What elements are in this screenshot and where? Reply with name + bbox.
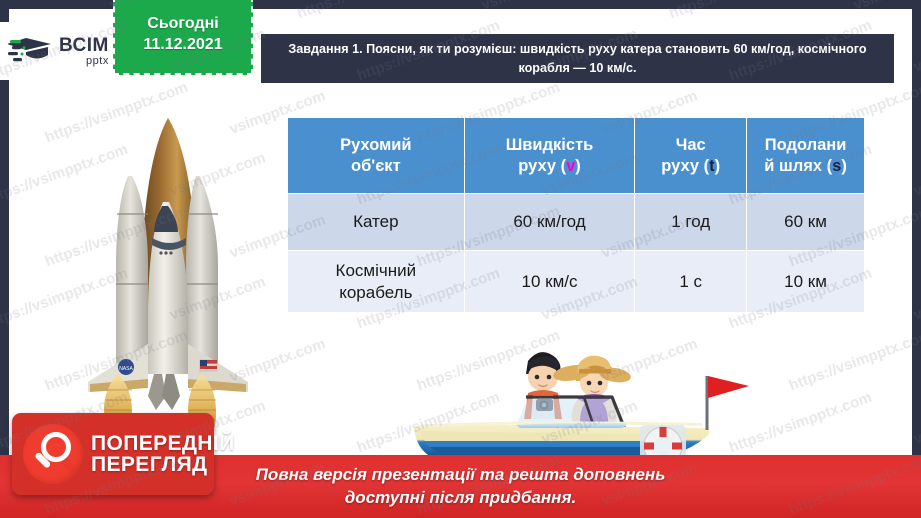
graduation-cap-icon: [8, 33, 54, 69]
task-text: Завдання 1. Поясни, як ти розумієш: швид…: [271, 40, 884, 77]
column-header-object: Рухомий об'єкт: [288, 118, 465, 194]
header-line2: руху (: [518, 157, 566, 175]
speedboat-with-children-image: [408, 333, 718, 468]
today-date-badge: Сьогодні 11.12.2021: [113, 0, 253, 75]
preview-line2: ПЕРЕГЛЯД: [91, 454, 235, 475]
preview-badge[interactable]: ПОПЕРЕДНІЙ ПЕРЕГЛЯД: [12, 413, 214, 495]
header-line1: Рухомий: [340, 136, 412, 154]
task-header-band: Завдання 1. Поясни, як ти розумієш: швид…: [258, 31, 897, 86]
table-header-row: Рухомий об'єкт Швидкість руху (v) Час ру…: [288, 118, 865, 194]
magnifier-icon: [23, 424, 83, 484]
cell-distance: 10 км: [747, 251, 865, 313]
object-name-line2: корабель: [339, 283, 412, 302]
space-shuttle-launch-image: NASA: [62, 98, 292, 438]
header-line2: об'єкт: [351, 157, 401, 175]
header-line2: й шлях (: [764, 157, 832, 175]
cell-speed: 60 км/год: [464, 194, 635, 251]
cell-object: Космічний корабель: [288, 251, 465, 313]
column-header-time: Час руху (t): [635, 118, 747, 194]
distance-symbol: s: [832, 157, 841, 175]
presentation-slide: NASA: [0, 0, 921, 518]
today-date: 11.12.2021: [143, 36, 222, 54]
logo-sub-text: pptx: [86, 56, 109, 67]
header-line1: Подолани: [765, 136, 847, 154]
column-header-speed: Швидкість руху (v): [464, 118, 635, 194]
header-tail: ): [841, 157, 847, 175]
column-header-distance: Подолани й шлях (s): [747, 118, 865, 194]
banner-line1: Повна версія презентації та решта доповн…: [256, 464, 666, 486]
today-label: Сьогодні: [147, 15, 218, 33]
header-line1: Швидкість: [506, 136, 594, 154]
cell-object: Катер: [288, 194, 465, 251]
object-name-line1: Космічний: [336, 261, 417, 280]
table-row: Катер 60 км/год 1 год 60 км: [288, 194, 865, 251]
header-tail: ): [715, 157, 721, 175]
preview-line1: ПОПЕРЕДНІЙ: [91, 433, 235, 454]
table-row: Космічний корабель 10 км/с 1 с 10 км: [288, 251, 865, 313]
vsim-pptx-logo: ВСІМ pptx: [0, 22, 122, 80]
motion-table: Рухомий об'єкт Швидкість руху (v) Час ру…: [287, 117, 865, 313]
header-line2: руху (: [661, 157, 709, 175]
cell-time: 1 с: [635, 251, 747, 313]
banner-line2: доступні після придбання.: [345, 487, 576, 509]
svg-text:NASA: NASA: [119, 366, 133, 372]
cell-time: 1 год: [635, 194, 747, 251]
red-flag-icon: [697, 372, 753, 432]
speed-symbol: v: [566, 157, 575, 175]
header-line1: Час: [676, 136, 706, 154]
header-tail: ): [575, 157, 581, 175]
object-name: Катер: [353, 212, 399, 231]
cell-distance: 60 км: [747, 194, 865, 251]
logo-main-text: ВСІМ: [59, 36, 109, 55]
cell-speed: 10 км/с: [464, 251, 635, 313]
